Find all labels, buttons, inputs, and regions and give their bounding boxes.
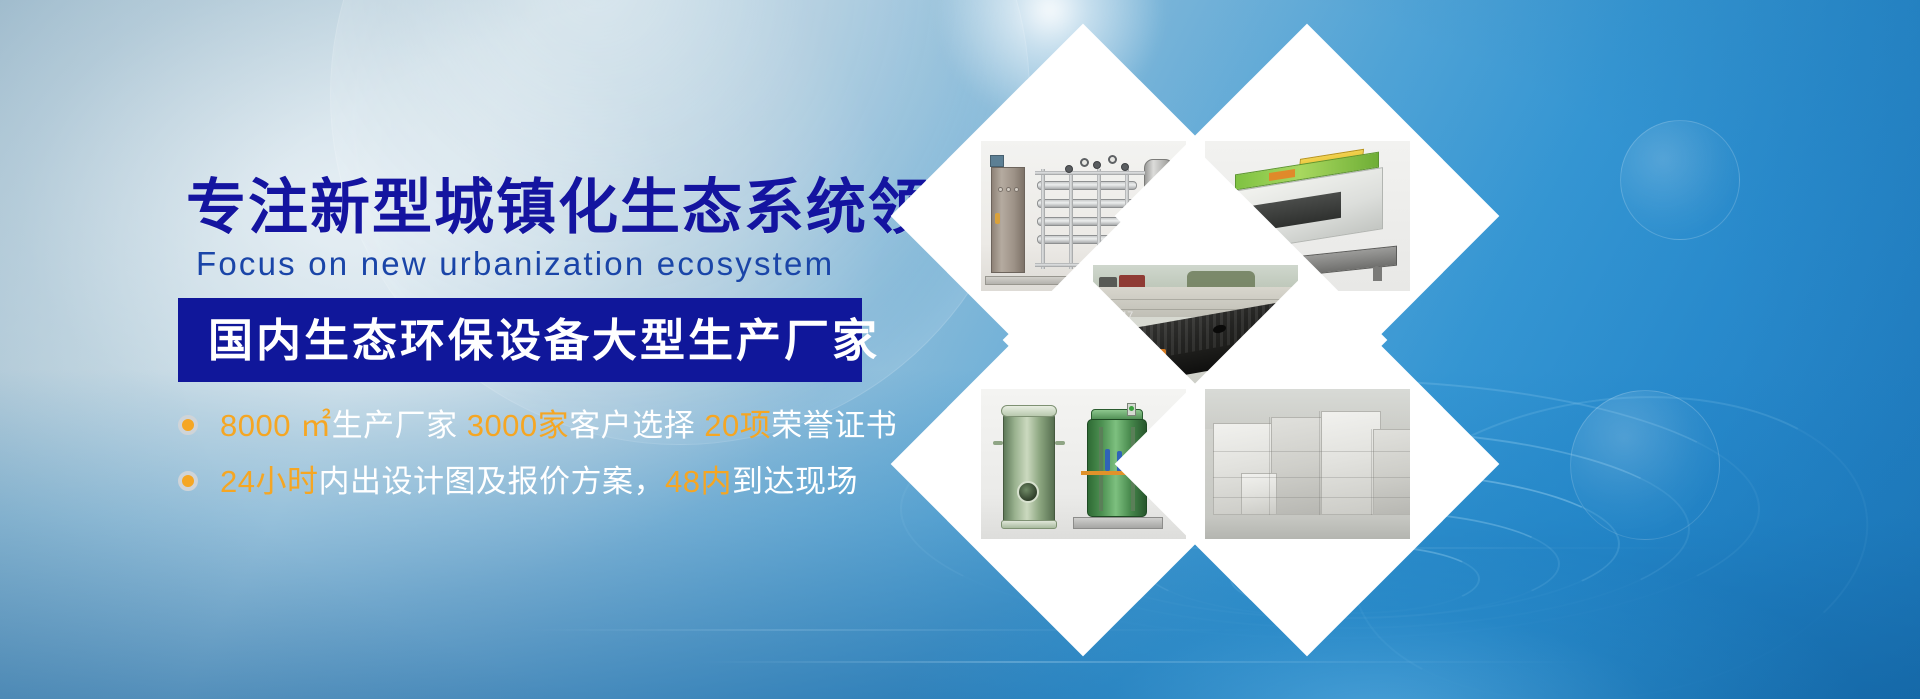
bullet-text: 8000 ㎡生产厂家 3000家客户选择 20项荣誉证书 [220,410,897,441]
product-diamond-grid: 39 47 6 9 2020-07-21 环保设备公司 [905,38,1915,538]
bullet-item: 8000 ㎡生产厂家 3000家客户选择 20项荣誉证书 [178,400,918,450]
banner-highlight-bar: 国内生态环保设备大型生产厂家 [178,298,862,382]
bullet-dot-icon [178,471,198,491]
bullet-dot-icon [178,415,198,435]
banner-highlight-bar-text: 国内生态环保设备大型生产厂家 [178,318,880,363]
photo-concrete-block-stack [1205,389,1410,539]
banner-bullet-list: 8000 ㎡生产厂家 3000家客户选择 20项荣誉证书 24小时内出设计图及报… [178,400,918,512]
bullet-item: 24小时内出设计图及报价方案，48内到达现场 [178,456,918,506]
banner-headline-cn: 专注新型城镇化生态系统领域 [186,178,992,238]
hero-banner: 专注新型城镇化生态系统领域 Focus on new urbanization … [0,0,1920,699]
bullet-text: 24小时内出设计图及报价方案，48内到达现场 [220,466,858,497]
banner-subheadline-en: Focus on new urbanization ecosystem [196,247,834,280]
banner-copy-block: 专注新型城镇化生态系统领域 Focus on new urbanization … [0,0,920,699]
